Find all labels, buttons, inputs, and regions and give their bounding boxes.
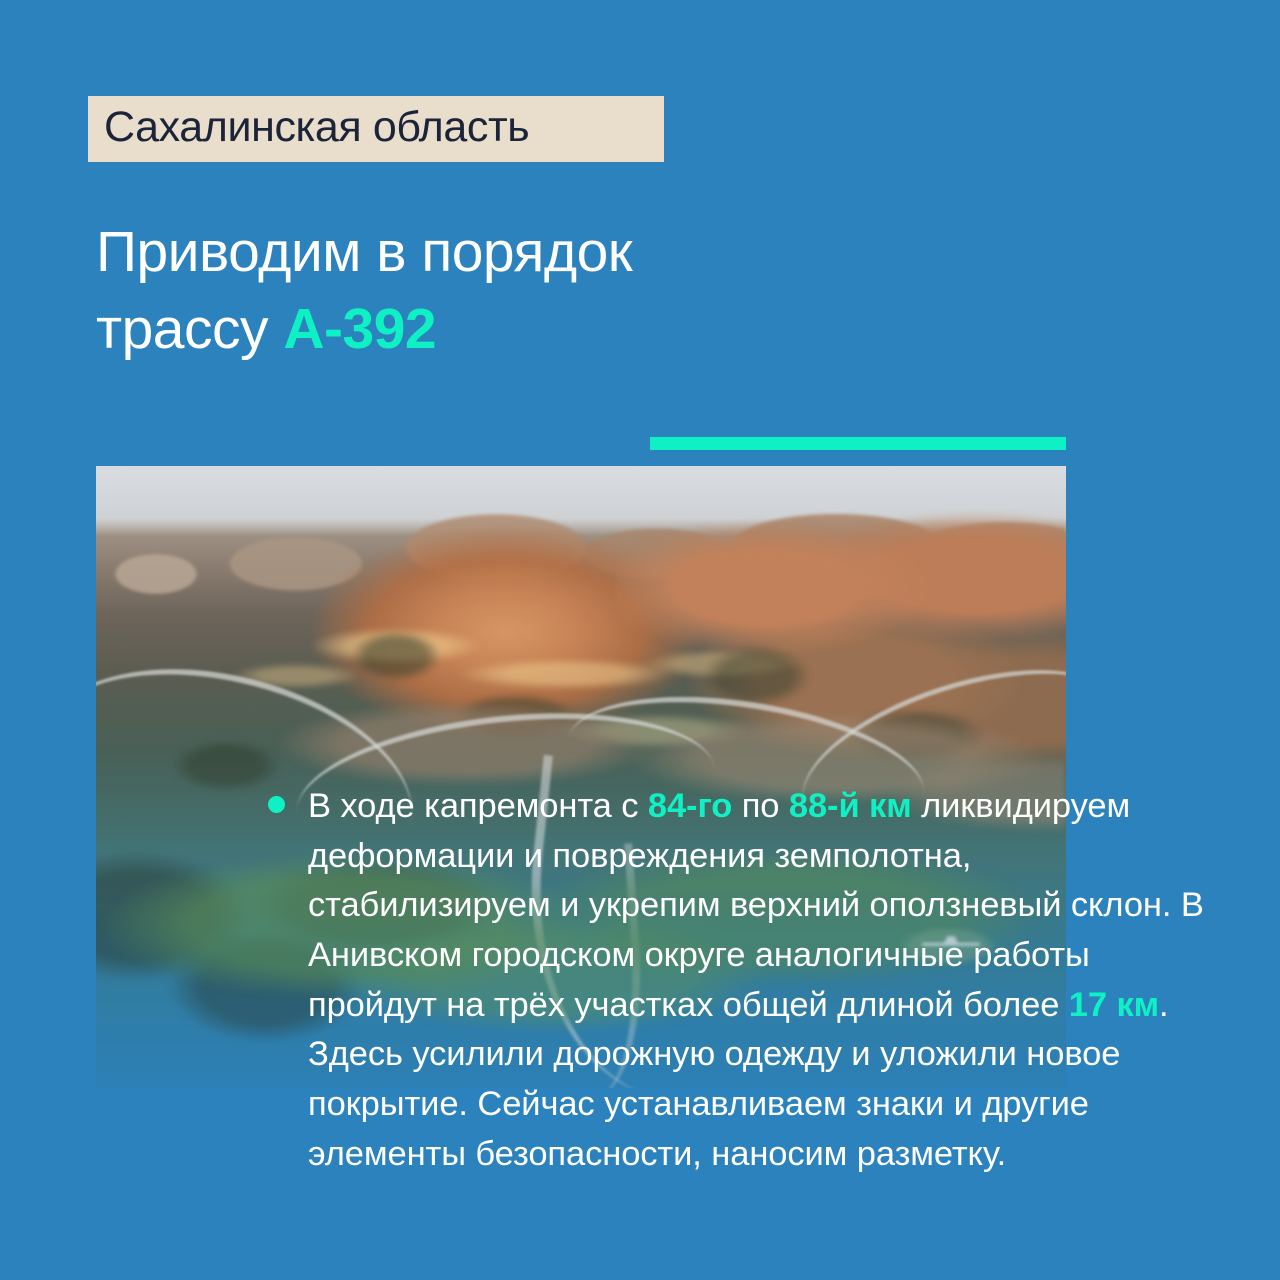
- region-badge-label: Сахалинская область: [104, 106, 529, 149]
- body-accent-1: 84-го: [648, 787, 732, 825]
- headline-line-2: трассу А-392: [96, 291, 936, 368]
- body-copy-block: В ходе капремонта с 84-го по 88-й км лик…: [268, 782, 1208, 1179]
- bullet-dot-icon: [268, 796, 285, 813]
- headline-line-1: Приводим в порядок: [96, 214, 936, 291]
- body-accent-5: 17 км: [1069, 986, 1159, 1024]
- poster-canvas: Сахалинская область Приводим в порядок т…: [0, 0, 1280, 1280]
- headline-text-secondary: трассу: [96, 297, 283, 361]
- headline-highway-code: А-392: [283, 297, 436, 361]
- headline-text-primary: Приводим в порядок: [96, 220, 632, 284]
- body-text-0: В ходе капремонта с: [308, 787, 648, 825]
- page-title: Приводим в порядок трассу А-392: [96, 214, 936, 368]
- body-text-2: по: [732, 787, 789, 825]
- accent-rule: [650, 437, 1066, 450]
- body-paragraph: В ходе капремонта с 84-го по 88-й км лик…: [308, 782, 1208, 1179]
- region-badge: Сахалинская область: [88, 96, 664, 162]
- body-accent-3: 88-й км: [789, 787, 912, 825]
